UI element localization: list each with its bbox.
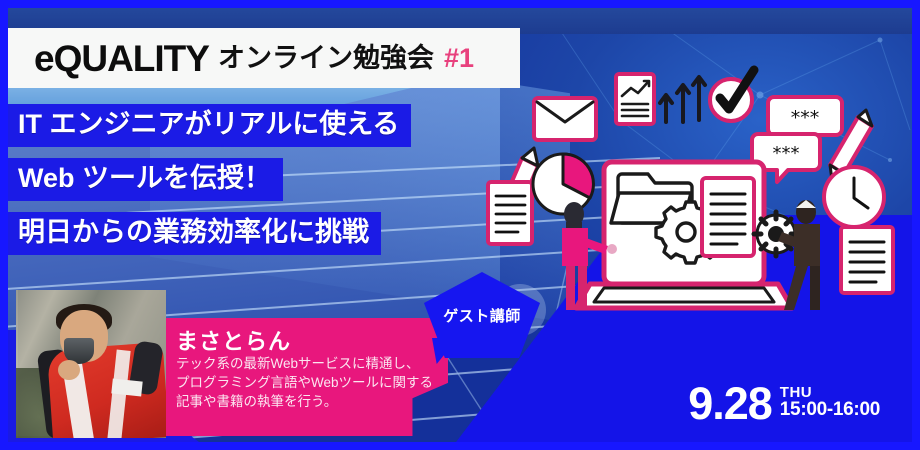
headline-line-1: IT エンジニアがリアルに使える <box>0 104 411 147</box>
growth-arrows-icon <box>660 77 705 122</box>
document-icon-right <box>841 227 893 293</box>
document-icon-left <box>488 182 532 244</box>
business-tools-illustration: *** *** <box>486 62 916 312</box>
pie-chart-icon <box>533 154 593 214</box>
brand-title: eQUALITY <box>34 40 209 77</box>
speaker-name: まさとらん <box>176 324 291 356</box>
speaker-bio-line-2: プログラミング言語やWebツールに関する <box>176 373 433 392</box>
speaker-photo <box>16 290 166 438</box>
event-date-block: 9.28 THU 15:00-16:00 <box>688 383 880 424</box>
gear-icon-small <box>754 212 798 256</box>
event-day: 9.28 <box>688 383 772 424</box>
headline-group: IT エンジニアがリアルに使える Web ツールを伝授！ 明日からの業務効率化に… <box>0 104 411 266</box>
chart-document-icon <box>616 74 654 124</box>
event-weekday: THU <box>780 385 880 400</box>
svg-text:***: *** <box>773 143 800 164</box>
svg-text:***: *** <box>791 107 820 129</box>
checkmark-circle-icon <box>710 70 754 121</box>
speaker-bio-line-3: 記事や書籍の執筆を行う。 <box>176 392 433 411</box>
event-time: 15:00-16:00 <box>780 400 880 421</box>
headline-line-2: Web ツールを伝授！ <box>0 158 283 201</box>
envelope-icon <box>534 98 596 140</box>
document-icon-screen <box>702 178 754 256</box>
webinar-banner: *** *** <box>0 0 920 450</box>
guest-badge-label: ゲスト講師 <box>443 305 521 326</box>
clock-icon <box>824 167 884 227</box>
title-bar: eQUALITY オンライン勉強会 #1 <box>8 28 520 88</box>
speaker-bio-line-1: テック系の最新Webサービスに精通し、 <box>176 354 433 373</box>
issue-number-badge: #1 <box>444 45 474 72</box>
event-type-label: オンライン勉強会 <box>218 45 434 72</box>
headline-line-3: 明日からの業務効率化に挑戦 <box>0 212 381 255</box>
speaker-bio: テック系の最新Webサービスに精通し、 プログラミング言語やWebツールに関する… <box>176 354 433 411</box>
